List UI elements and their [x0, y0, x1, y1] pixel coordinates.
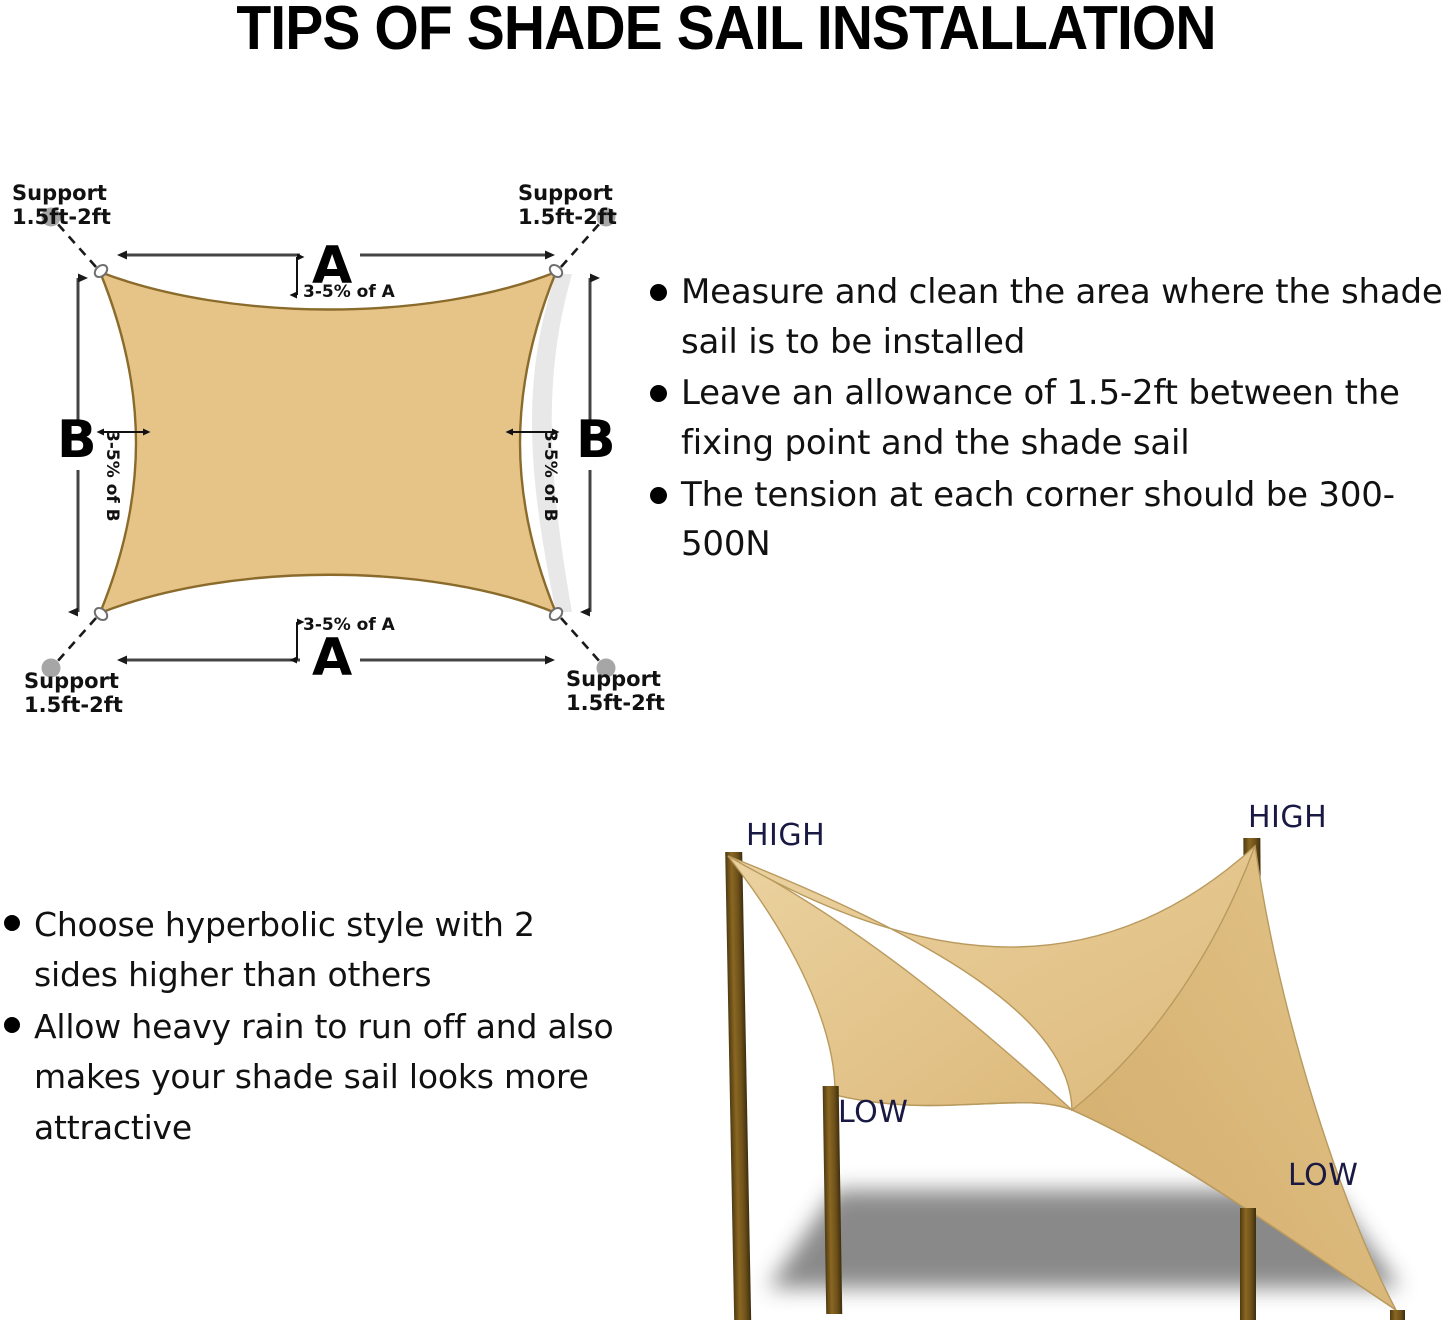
rectangular-sail-diagram: Support 1.5ft-2ft Support 1.5ft-2ft Supp…	[0, 160, 660, 740]
hyperbolic-style-list: Choose hyperbolic style with 2 sides hig…	[4, 900, 624, 1155]
post-mid-right	[1240, 1208, 1256, 1320]
support-label-top-left: Support 1.5ft-2ft	[12, 182, 111, 229]
support-label-line2: 1.5ft-2ft	[24, 694, 123, 718]
cable-bottom-right	[561, 618, 601, 663]
support-label-bottom-left: Support 1.5ft-2ft	[24, 670, 123, 717]
support-label-line2: 1.5ft-2ft	[12, 206, 111, 230]
shade-sail-shape	[100, 272, 556, 613]
support-label-line2: 1.5ft-2ft	[518, 206, 617, 230]
list-item: Choose hyperbolic style with 2 sides hig…	[4, 900, 624, 1000]
bullet-dot-icon	[650, 385, 667, 402]
support-label-top-right: Support 1.5ft-2ft	[518, 182, 617, 229]
list-item: Allow heavy rain to run off and also mak…	[4, 1002, 624, 1152]
bullet-dot-icon	[4, 915, 20, 931]
bullet-dot-icon	[650, 487, 667, 504]
support-label-line1: Support	[566, 668, 665, 692]
label-low-right: LOW	[1288, 1158, 1358, 1193]
dimension-label-a-bottom: A	[312, 632, 352, 684]
bullet-dot-icon	[4, 1017, 20, 1033]
label-high-left: HIGH	[746, 818, 825, 853]
list-item: Leave an allowance of 1.5-2ft between th…	[650, 369, 1450, 468]
support-label-line1: Support	[24, 670, 123, 694]
cable-bottom-left	[56, 618, 96, 663]
list-item: Measure and clean the area where the sha…	[650, 268, 1450, 367]
installation-tips-list: Measure and clean the area where the sha…	[650, 268, 1450, 572]
page-title: TIPS OF SHADE SAIL INSTALLATION	[58, 0, 1394, 61]
post-low-right	[1390, 1310, 1405, 1320]
list-item-text: The tension at each corner should be 300…	[681, 471, 1450, 570]
label-high-right: HIGH	[1248, 800, 1327, 835]
list-item-text: Leave an allowance of 1.5-2ft between th…	[681, 369, 1450, 468]
list-item-text: Allow heavy rain to run off and also mak…	[34, 1002, 624, 1152]
post-high-left	[725, 852, 751, 1320]
support-label-line1: Support	[518, 182, 617, 206]
list-item-text: Choose hyperbolic style with 2 sides hig…	[34, 900, 624, 1000]
support-label-line1: Support	[12, 182, 111, 206]
list-item-text: Measure and clean the area where the sha…	[681, 268, 1450, 367]
curve-label-top: 3-5% of A	[303, 282, 395, 302]
support-label-line2: 1.5ft-2ft	[566, 692, 665, 716]
curve-label-left: 3-5% of B	[102, 430, 122, 522]
dimension-label-b-right: B	[576, 414, 616, 466]
curve-label-right: 3-5% of B	[540, 430, 560, 522]
bullet-dot-icon	[650, 284, 667, 301]
label-low-left: LOW	[838, 1095, 908, 1130]
hyperbolic-sail-diagram: HIGH HIGH LOW LOW	[640, 790, 1452, 1325]
dimension-label-b-left: B	[57, 414, 97, 466]
curve-label-bottom: 3-5% of A	[303, 615, 395, 635]
list-item: The tension at each corner should be 300…	[650, 471, 1450, 570]
hyperbolic-sail-svg	[640, 790, 1452, 1325]
support-label-bottom-right: Support 1.5ft-2ft	[566, 668, 665, 715]
